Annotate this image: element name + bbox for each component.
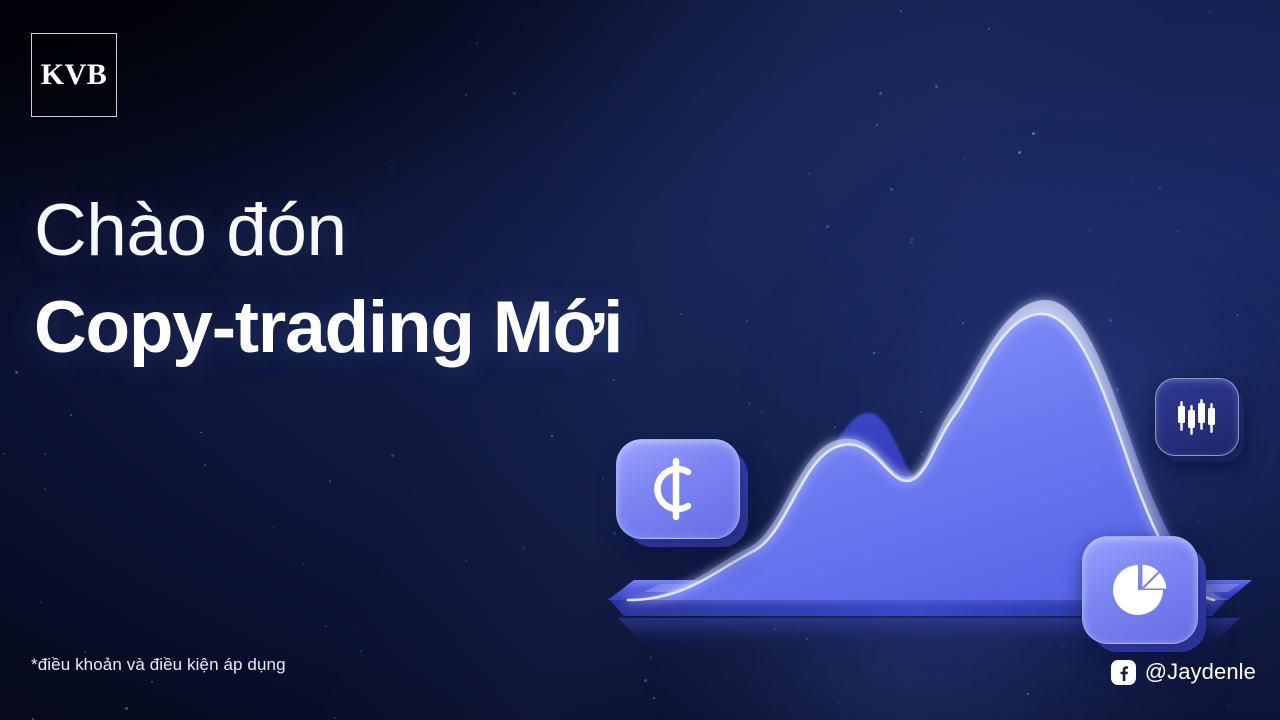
pie-chart-icon bbox=[1082, 536, 1198, 644]
social-handle-text[interactable]: @Jaydenle bbox=[1145, 659, 1256, 685]
terms-footnote: *điều khoản và điều kiện áp dụng bbox=[31, 655, 286, 675]
brand-logo-text: KVB bbox=[41, 58, 108, 92]
kvb-logo-square: KVB bbox=[31, 33, 117, 117]
promotional-banner: KVB Chào đón Copy-trading Mới bbox=[0, 0, 1280, 720]
headline-line-1: Chào đón bbox=[34, 194, 854, 267]
candlestick-chart-icon bbox=[1155, 378, 1239, 456]
social-handle-block[interactable]: @Jaydenle bbox=[1111, 659, 1256, 685]
cent-currency-icon bbox=[616, 439, 740, 539]
pie-chart-badge bbox=[1082, 536, 1196, 642]
cent-currency-badge bbox=[616, 439, 738, 537]
candlestick-chart-badge bbox=[1155, 378, 1237, 454]
facebook-icon[interactable] bbox=[1111, 660, 1136, 685]
